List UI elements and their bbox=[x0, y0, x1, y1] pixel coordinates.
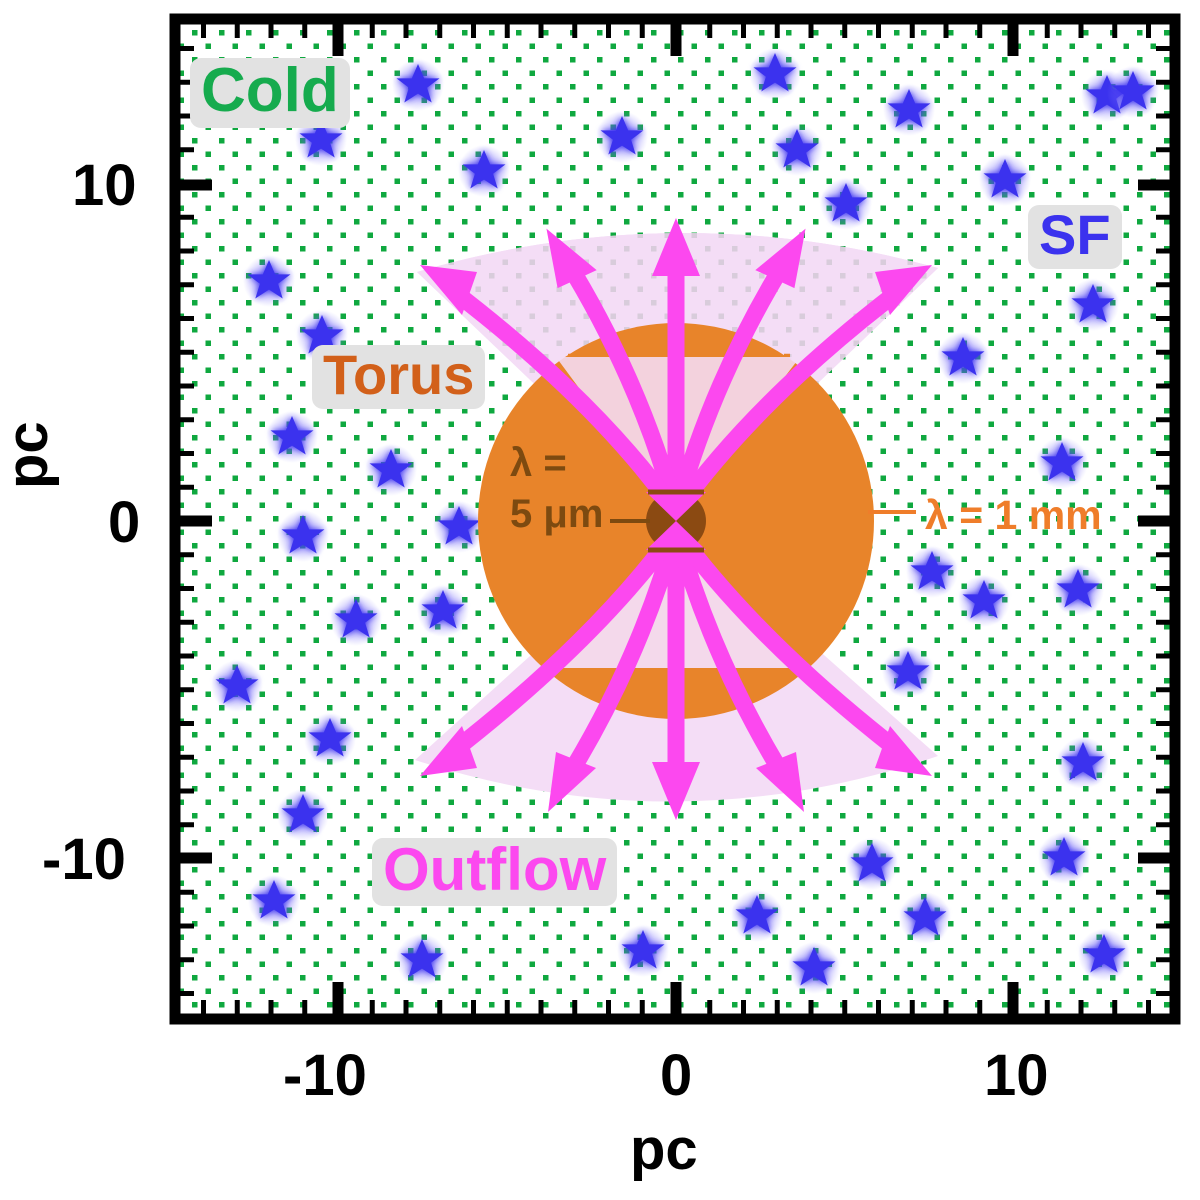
label-cold: Cold bbox=[190, 58, 350, 128]
y-tick-label-10: 10 bbox=[72, 152, 137, 219]
label-outflow: Outflow bbox=[372, 838, 617, 906]
label-torus: Torus bbox=[312, 345, 485, 409]
y-tick-label-0: 0 bbox=[108, 489, 140, 556]
lambda-5um-line1: λ = bbox=[510, 438, 603, 489]
label-sf: SF bbox=[1028, 205, 1122, 269]
lambda-5um-line2: 5 μm bbox=[510, 489, 603, 540]
x-tick-label-10: 10 bbox=[984, 1042, 1049, 1109]
lambda-1mm-annotation: λ = 1 mm bbox=[925, 492, 1102, 539]
diagram-svg bbox=[0, 0, 1200, 1200]
x-tick-label-neg10: -10 bbox=[283, 1042, 367, 1109]
y-axis-label: pc bbox=[0, 421, 61, 489]
x-tick-label-0: 0 bbox=[660, 1042, 692, 1109]
figure-canvas: 10 0 -10 pc -10 0 10 pc Cold Torus SF Ou… bbox=[0, 0, 1200, 1200]
x-axis-label: pc bbox=[630, 1116, 698, 1183]
y-tick-label-neg10: -10 bbox=[42, 826, 126, 893]
lambda-5um-annotation: λ = 5 μm bbox=[510, 438, 603, 540]
